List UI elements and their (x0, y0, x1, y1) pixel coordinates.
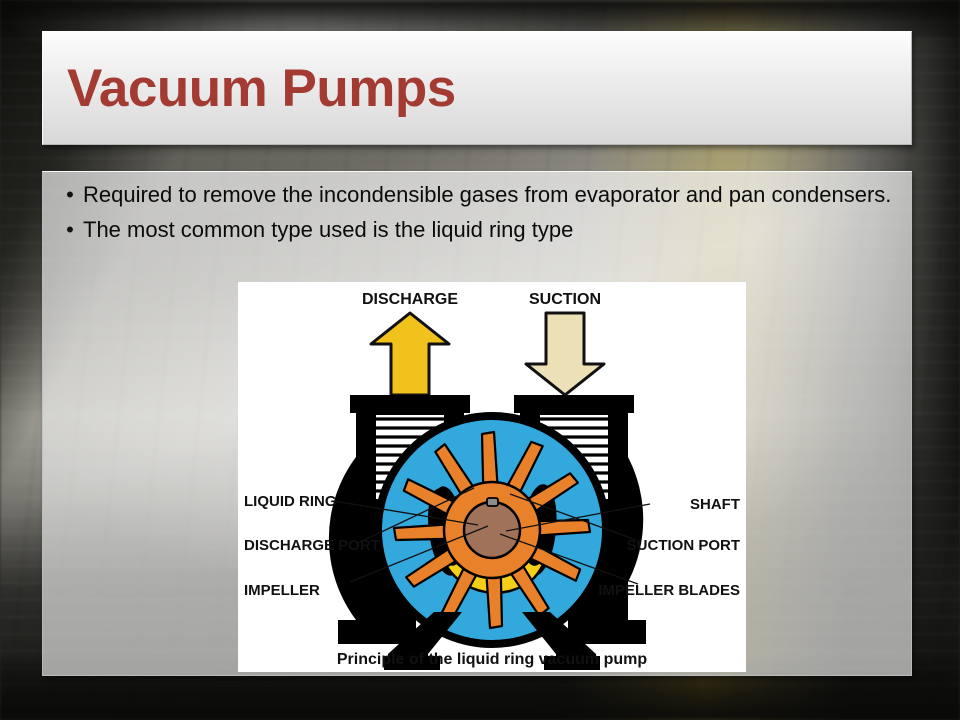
pump-diagram-image: DISCHARGE SUCTION (238, 282, 746, 672)
diagram-caption: Principle of the liquid ring vacuum pump (337, 651, 647, 668)
shaft-key (487, 498, 498, 506)
discharge-label: DISCHARGE (362, 291, 458, 308)
liquid-ring-label: LIQUID RING (244, 493, 337, 510)
impeller-blades-label: IMPELLER BLADES (598, 582, 740, 599)
bullet-text: The most common type used is the liquid … (83, 213, 899, 246)
bullet-marker-icon: • (57, 213, 83, 246)
discharge-port-label: DISCHARGE PORT (244, 537, 380, 554)
suction-port-label: SUCTION PORT (627, 537, 740, 554)
slide-canvas: Vacuum Pumps • Required to remove the in… (0, 0, 960, 720)
title-box: Vacuum Pumps (42, 31, 912, 145)
page-title: Vacuum Pumps (67, 58, 456, 119)
list-item: • The most common type used is the liqui… (57, 213, 899, 246)
bullet-text: Required to remove the incondensible gas… (83, 178, 899, 211)
shaft-label: SHAFT (690, 496, 740, 513)
list-item: • Required to remove the incondensible g… (57, 178, 899, 211)
bullet-list: • Required to remove the incondensible g… (57, 178, 899, 248)
impeller-label: IMPELLER (244, 582, 320, 599)
bullet-marker-icon: • (57, 178, 83, 211)
content-panel: • Required to remove the incondensible g… (42, 171, 912, 676)
liquid-ring-pump-illustration: DISCHARGE SUCTION (238, 282, 746, 672)
suction-label: SUCTION (529, 291, 601, 308)
